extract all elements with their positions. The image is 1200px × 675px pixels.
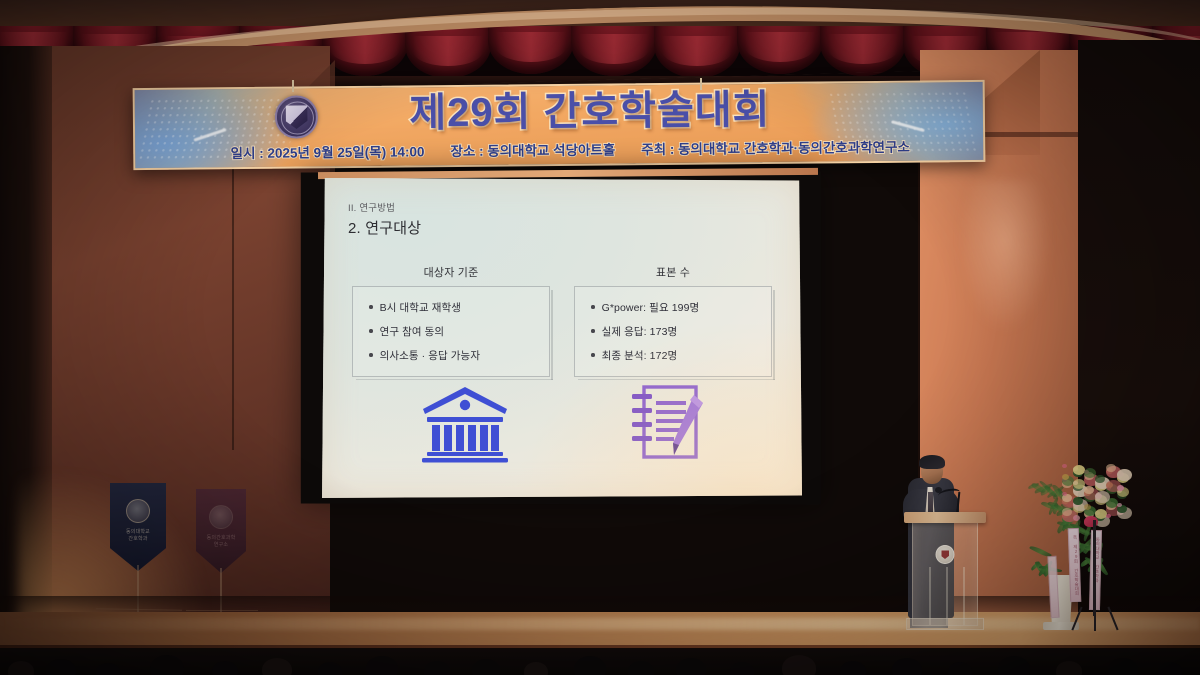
dongeui-university-emblem	[275, 95, 318, 138]
auditorium-scene: 제29회 간호학술대회 일시 : 2025년 9월 25일(목) 14:00 장…	[0, 0, 1200, 675]
flower-stand-leg	[1107, 607, 1118, 631]
flower-stand-leg	[1071, 607, 1082, 631]
congratulatory-flower-bouquet	[1058, 462, 1132, 524]
slide-section-kicker: II. 연구방법	[348, 200, 421, 214]
slide-column-sample-size: 표본 수 G*power: 필요 199명 실제 응답: 173명 최종 분석:…	[574, 264, 772, 377]
flower-stand-pole	[1093, 520, 1096, 616]
audience-head	[262, 658, 292, 675]
audience-silhouettes	[0, 648, 1200, 675]
audience-head	[1108, 658, 1138, 675]
university-building-icon	[419, 385, 511, 468]
bouquet-blossom	[1062, 464, 1067, 468]
banner-hook-right	[700, 78, 702, 90]
right-wall-highlight	[960, 180, 1050, 330]
audience-head	[150, 655, 184, 675]
audience-head	[366, 656, 398, 675]
event-banner: 제29회 간호학술대회 일시 : 2025년 9월 25일(목) 14:00 장…	[133, 80, 986, 170]
bullet-item: B시 대학교 재학생	[369, 300, 541, 315]
pennant-maroon-seal-icon	[209, 505, 233, 529]
audience-head	[212, 661, 238, 675]
flower-ribbon-left-text: 축 제29회 간호학술대회	[1069, 535, 1080, 596]
slide-column-criteria: 대상자 기준 B시 대학교 재학생 연구 참여 동의 의사소통 · 응답 가능자	[352, 264, 550, 377]
left-wall-seam	[232, 130, 234, 450]
bullet-text: 의사소통 · 응답 가능자	[380, 348, 481, 363]
bullet-item: 최종 분석: 172명	[591, 348, 763, 363]
audience-head	[318, 662, 342, 675]
audience-head	[574, 656, 606, 675]
column-heading-criteria: 대상자 기준	[352, 264, 550, 280]
stage-floor-reflection	[0, 618, 1200, 630]
column-box-sample-size: G*power: 필요 199명 실제 응답: 173명 최종 분석: 172명	[574, 286, 772, 377]
speaker-hair	[919, 455, 945, 469]
banner-detail-datetime: 일시 : 2025년 9월 25일(목) 14:00	[230, 140, 424, 162]
column-heading-sample-size: 표본 수	[574, 264, 772, 280]
bullet-dot-icon	[591, 305, 595, 309]
audience-head	[948, 662, 972, 675]
audience-head	[472, 659, 500, 675]
bullet-text: G*power: 필요 199명	[602, 300, 700, 315]
speaker-necktie	[928, 492, 933, 514]
audience-head	[628, 661, 654, 675]
bullet-dot-icon	[591, 329, 595, 333]
flower-stand-tripod	[1072, 606, 1118, 630]
lectern-rail-right	[963, 567, 965, 625]
bouquet-blossom	[1095, 491, 1110, 503]
bouquet-blossom	[1117, 469, 1132, 481]
bullet-text: 실제 응답: 173명	[602, 324, 678, 339]
bullet-item: 실제 응답: 173명	[591, 324, 763, 339]
audience-head	[1056, 661, 1082, 675]
bullet-text: 연구 참여 동의	[380, 324, 445, 339]
slide-columns: 대상자 기준 B시 대학교 재학생 연구 참여 동의 의사소통 · 응답 가능자	[352, 264, 772, 377]
pennant-navy-seal-icon	[126, 499, 150, 523]
lectern-desktop	[904, 512, 986, 523]
bullet-item: G*power: 필요 199명	[591, 300, 763, 315]
bouquet-blossom	[1106, 514, 1111, 518]
bouquet-blossom	[1073, 515, 1080, 521]
bullet-item: 연구 참여 동의	[369, 324, 541, 339]
bullet-text: B시 대학교 재학생	[380, 300, 461, 315]
flower-ribbon-right: 동의대학교 간호학과	[1089, 530, 1102, 610]
flower-stand-leg	[1094, 606, 1096, 631]
podium-crest-shield	[941, 550, 949, 559]
bullet-dot-icon	[591, 353, 595, 357]
lectern	[912, 518, 978, 626]
bullet-item: 의사소통 · 응답 가능자	[369, 348, 541, 363]
presentation-slide: II. 연구방법 2. 연구대상 대상자 기준 B시 대학교 재학생 연구 참여…	[322, 178, 802, 498]
banner-detail-host: 주최 : 동의대학교 간호학과·동의간호과학연구소	[641, 136, 910, 159]
notepad-pencil-icon	[624, 383, 706, 468]
audience-head	[8, 661, 34, 675]
slide-heading-group: II. 연구방법 2. 연구대상	[348, 200, 421, 238]
audience-head	[730, 662, 754, 675]
podium-crest-icon	[936, 545, 955, 564]
audience-head	[892, 658, 922, 675]
audience-head	[1158, 662, 1182, 675]
slide-title: 2. 연구대상	[348, 217, 421, 238]
bullet-dot-icon	[369, 305, 373, 309]
audience-head	[46, 659, 76, 675]
audience-head	[998, 656, 1030, 675]
audience-head	[676, 658, 706, 675]
audience-head	[840, 661, 866, 675]
bullet-dot-icon	[369, 353, 373, 357]
audience-head	[424, 661, 450, 675]
audience-head	[782, 655, 816, 675]
slide-icon-row	[362, 383, 762, 468]
audience-head	[96, 663, 120, 675]
pennant-maroon-text: 동의간호과학연구소	[196, 535, 246, 549]
banner-detail-venue: 장소 : 동의대학교 석당아트홀	[450, 138, 615, 160]
column-box-criteria: B시 대학교 재학생 연구 참여 동의 의사소통 · 응답 가능자	[352, 286, 550, 377]
lectern-base	[906, 618, 984, 630]
lectern-rail-left	[929, 567, 931, 625]
bullet-text: 최종 분석: 172명	[602, 348, 678, 363]
bullet-dot-icon	[369, 329, 373, 333]
banner-title: 제29회 간호학술대회	[330, 87, 850, 136]
flower-ribbon-knot	[1084, 516, 1098, 527]
lectern-rail-center	[946, 567, 948, 625]
pennant-navy-text: 동의대학교간호학과	[110, 529, 166, 543]
audience-head	[524, 662, 548, 675]
banner-hook-left	[292, 80, 294, 92]
